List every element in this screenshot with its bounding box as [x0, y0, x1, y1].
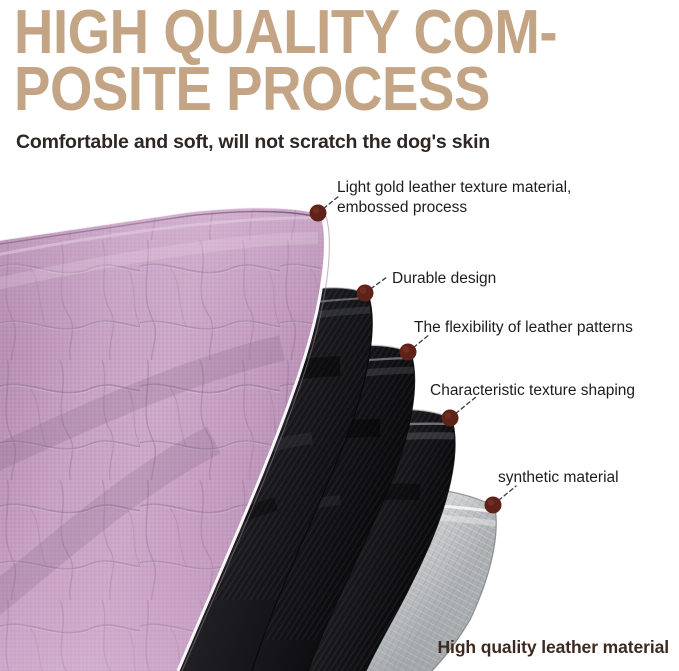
marker-dot-5: [485, 497, 502, 514]
callout-label-flexibility-leather-patterns: The flexibility of leather patterns: [414, 318, 679, 338]
callout-label-durable-design: Durable design: [392, 269, 662, 289]
marker-dot-2: [357, 285, 374, 302]
marker-dot-5-hl: [488, 499, 495, 506]
page-title: HIGH QUALITY COM- POSITE PROCESS: [14, 4, 586, 118]
leader-line-2: [365, 277, 387, 293]
callout-label-light-gold-leather: Light gold leather texture material, emb…: [337, 178, 667, 218]
layer-flexibility-leather-patterns: [0, 320, 679, 671]
layer-characteristic-texture-shaping: [0, 380, 679, 671]
leader-line-5: [493, 486, 516, 505]
callout-label-characteristic-texture-shaping: Characteristic texture shaping: [430, 381, 679, 401]
callout-label-synthetic-material: synthetic material: [498, 468, 678, 488]
marker-dot-3: [400, 344, 417, 361]
annotation-leaders: [318, 196, 516, 505]
footer-caption: High quality leather material: [438, 637, 669, 658]
page-subtitle: Comfortable and soft, will not scratch t…: [16, 131, 490, 154]
marker-dot-3-hl: [403, 346, 410, 353]
infographic-page: HIGH QUALITY COM- POSITE PROCESS Comfort…: [0, 0, 679, 671]
leader-line-1: [318, 196, 339, 213]
marker-dot-4: [442, 410, 459, 427]
layer-light-gold-leather: [0, 180, 679, 671]
marker-dot-2-hl: [360, 287, 367, 294]
marker-dot-4-hl: [445, 412, 452, 419]
marker-dot-1-hl: [313, 207, 320, 214]
annotation-markers: [310, 205, 502, 514]
marker-dot-1: [310, 205, 327, 222]
